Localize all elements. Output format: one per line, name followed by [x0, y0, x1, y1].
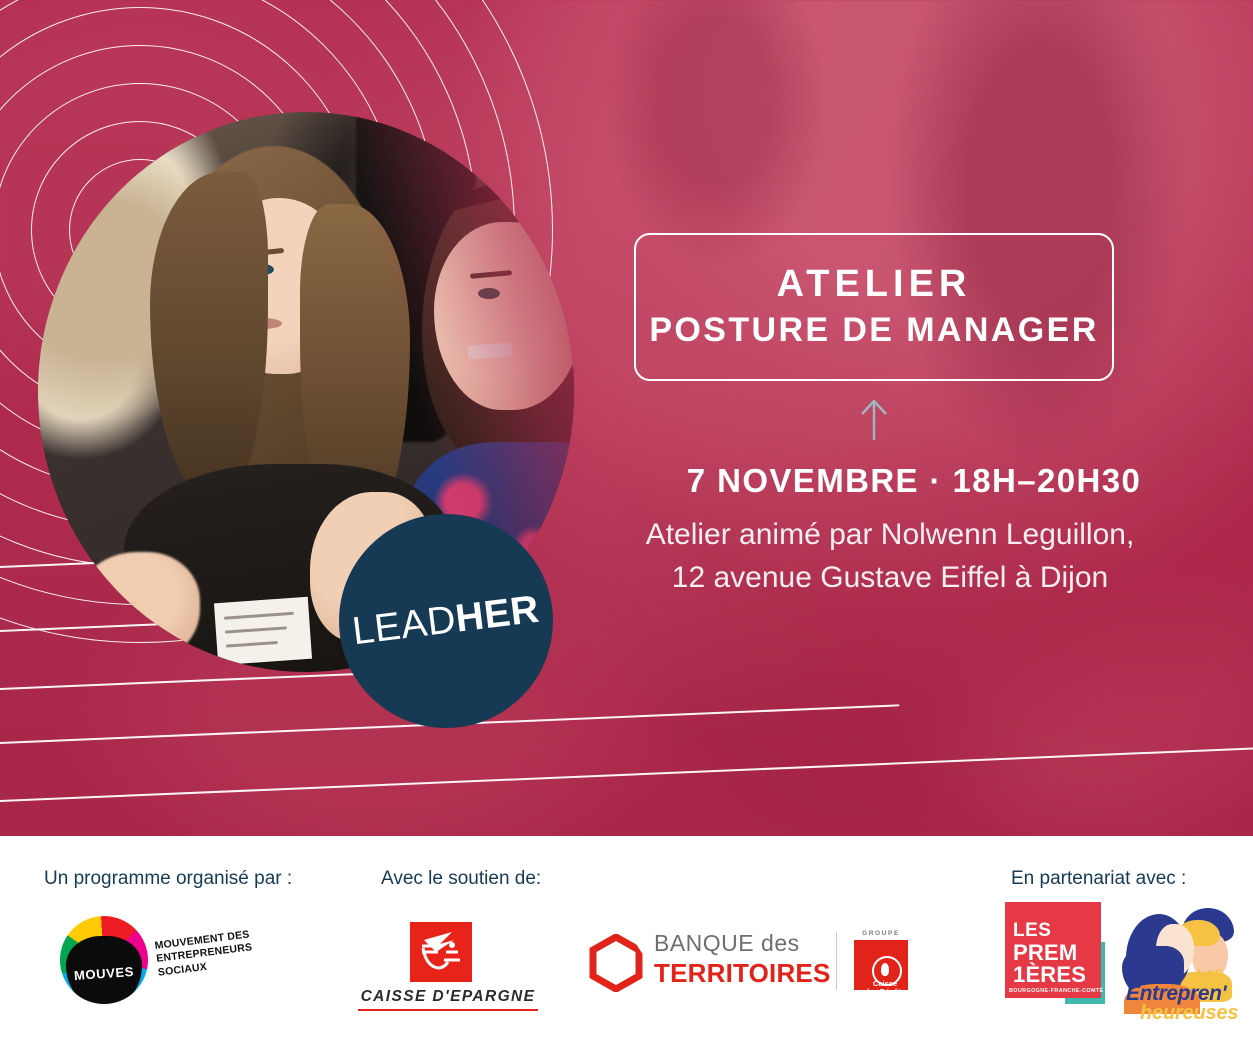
- les-premieres-logo: LES PREM 1ÈRES BOURGOGNE-FRANCHE-COMTÉ: [1005, 902, 1113, 1010]
- les-premieres-eres: ÈRES: [1025, 962, 1086, 987]
- support-label: Avec le soutien de:: [381, 868, 541, 890]
- caisse-des-depots-logo: GROUPE Caisse des Dépôts: [850, 930, 916, 992]
- leadher-lead-text: LEAD: [350, 598, 458, 653]
- arrow-up-icon: [852, 396, 896, 442]
- caisse-epargne-logo: CAISSE D'EPARGNE: [358, 922, 548, 1014]
- caisse-des-depots-group-label: GROUPE: [850, 930, 912, 937]
- caisse-des-depots-box: Caisse des Dépôts: [854, 940, 908, 990]
- event-title-box: ATELIER POSTURE DE MANAGER: [634, 233, 1114, 381]
- organizer-label: Un programme organisé par :: [44, 868, 292, 890]
- event-details: Atelier animé par Nolwenn Leguillon, 12 …: [540, 514, 1240, 599]
- les-premieres-line3: 1ÈRES: [1013, 962, 1086, 988]
- entrepreneures-line2: heureuses: [1140, 1002, 1238, 1025]
- les-premieres-line1: LES: [1013, 920, 1051, 942]
- banque-territoires-divider: [836, 932, 837, 990]
- partner-label: En partenariat avec :: [1011, 868, 1186, 890]
- event-detail-line2: 12 avenue Gustave Eiffel à Dijon: [540, 557, 1240, 600]
- event-detail-line1: Atelier animé par Nolwenn Leguillon,: [540, 514, 1240, 557]
- hexagon-icon: [588, 934, 644, 992]
- poster-root: LEADHER ATELIER POSTURE DE MANAGER 7 NOV…: [0, 0, 1253, 1051]
- banque-territoires-logo: BANQUE des TERRITOIRES GROUPE Caisse des…: [588, 928, 878, 1004]
- mouves-color-wheel-icon: [60, 916, 148, 1004]
- banque-territoires-line1: BANQUE des: [654, 930, 800, 957]
- leadher-badge-text: LEADHER: [350, 588, 542, 655]
- banque-territoires-line2: TERRITOIRES: [654, 958, 831, 989]
- leadher-badge: LEADHER: [339, 514, 553, 728]
- mouves-logo: MOUVES MOUVEMENT DES ENTREPRENEURS SOCIA…: [60, 916, 156, 1008]
- caisse-des-depots-name-line2: des Dépôts: [858, 988, 912, 996]
- les-premieres-numeral: 1: [1013, 962, 1025, 987]
- squirrel-icon: [410, 922, 472, 982]
- les-premieres-red-square: LES PREM 1ÈRES BOURGOGNE-FRANCHE-COMTÉ: [1005, 902, 1101, 998]
- leadher-her-text: HER: [453, 588, 541, 641]
- hero-section: LEADHER ATELIER POSTURE DE MANAGER 7 NOV…: [0, 0, 1253, 836]
- event-title-line1: ATELIER: [777, 263, 972, 307]
- event-title-line2: POSTURE DE MANAGER: [649, 310, 1098, 351]
- caisse-epargne-wordmark: CAISSE D'EPARGNE: [358, 988, 538, 1011]
- caisse-des-depots-name: Caisse des Dépôts: [858, 980, 912, 997]
- les-premieres-subtitle: BOURGOGNE-FRANCHE-COMTÉ: [1009, 988, 1103, 994]
- entrepreneures-logo: Les Entrepren' heureuses: [1120, 902, 1246, 1024]
- event-datetime: 7 NOVEMBRE · 18H–20H30: [634, 462, 1194, 500]
